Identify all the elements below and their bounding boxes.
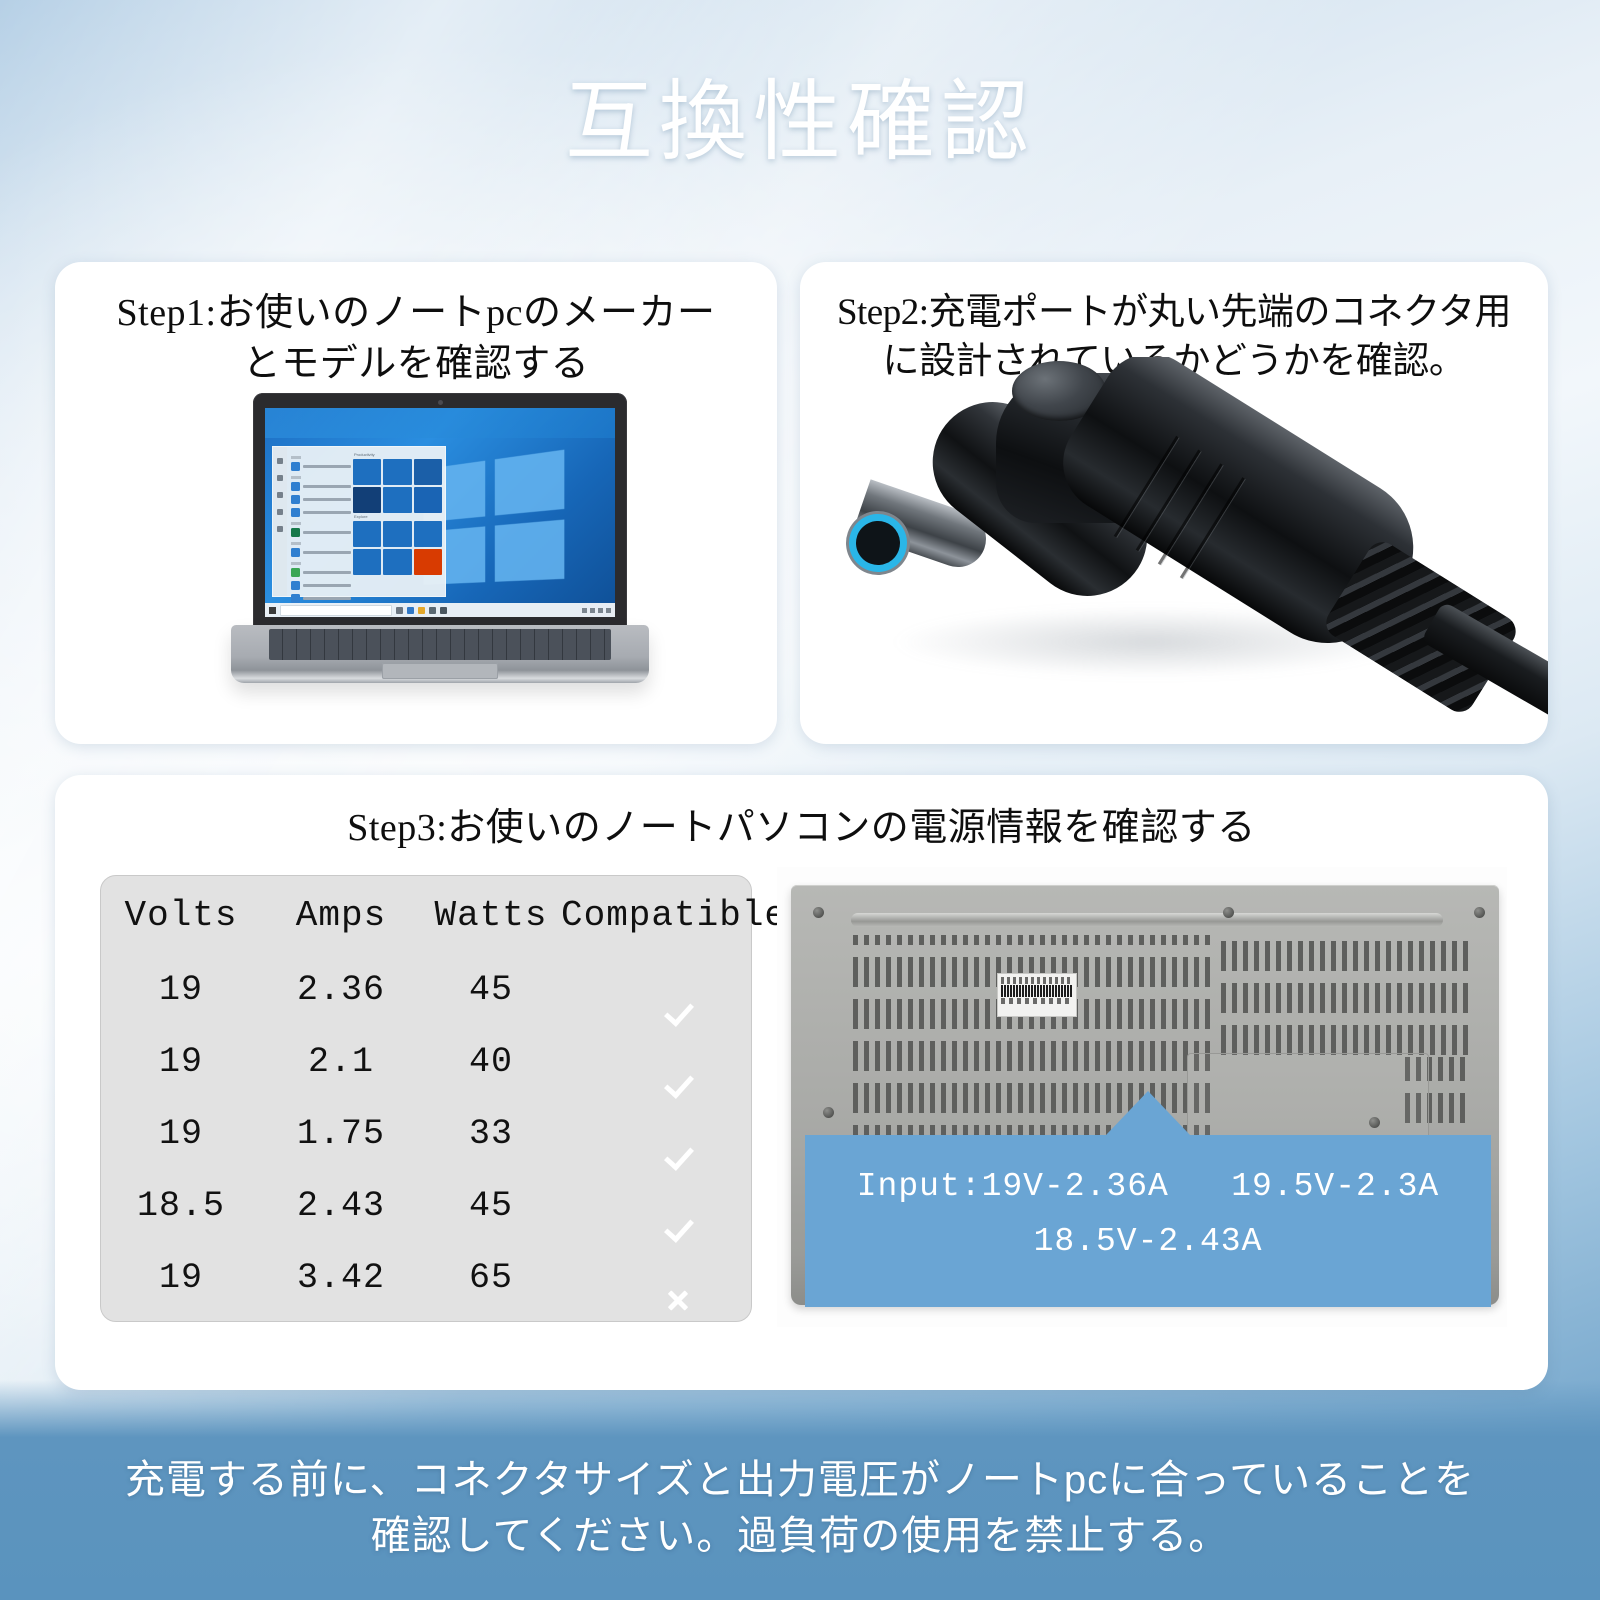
keyboard <box>269 629 611 660</box>
cell-volts: 19 <box>101 970 261 1010</box>
cell-volts: 18.5 <box>101 1186 261 1226</box>
explorer-icon[interactable] <box>418 607 425 614</box>
dc-connector-photo <box>800 357 1548 744</box>
calendar-icon <box>291 495 300 504</box>
spec-label-sticker <box>997 973 1077 1017</box>
table-row: 18.5 2.43 45 <box>101 1170 751 1242</box>
webcam-icon <box>438 400 443 405</box>
tile-microsoft-store <box>353 521 381 547</box>
cell-amps: 3.42 <box>261 1258 421 1298</box>
step3-heading: Step3:お使いのノートパソコンの電源情報を確認する <box>55 775 1548 854</box>
callout-pointer-icon <box>1106 1091 1190 1135</box>
tile-photos <box>383 487 411 513</box>
table-row: 19 3.42 65 <box>101 1242 751 1314</box>
laptop-base <box>231 625 649 683</box>
step2-heading-line1: Step2:充電ポートが丸い先端のコネクタ用 <box>810 288 1538 337</box>
connect-icon <box>291 594 300 603</box>
store-icon[interactable] <box>440 607 447 614</box>
taskbar-search-input[interactable] <box>280 605 392 616</box>
cell-amps: 1.75 <box>261 1114 421 1154</box>
feedback-hub-icon <box>291 548 300 557</box>
banner-line-1: Input:19V-2.36A 19.5V-2.3A <box>805 1135 1491 1212</box>
step2-card: Step2:充電ポートが丸い先端のコネクタ用 に設計されているかどうかを確認。 <box>800 262 1548 744</box>
game-bar-icon <box>291 568 300 577</box>
laptop-bottom-chassis: Input:19V-2.36A 19.5V-2.3A 18.5V-2.43A <box>791 885 1499 1305</box>
edge-icon[interactable] <box>407 607 414 614</box>
column-header-watts: Watts <box>421 895 561 936</box>
user-icon <box>277 458 283 464</box>
page-title: 互換性確認 <box>0 78 1600 170</box>
step3-card: Step3:お使いのノートパソコンの電源情報を確認する Volts Amps W… <box>55 775 1548 1390</box>
compatibility-table: Volts Amps Watts Compatible 19 2.36 45 1… <box>100 875 752 1322</box>
power-icon <box>277 526 283 532</box>
screw-icon <box>1223 907 1234 918</box>
screw-icon <box>1474 907 1485 918</box>
cell-watts: 45 <box>421 1186 561 1226</box>
step1-heading-line2: とモデルを確認する <box>65 339 767 390</box>
start-menu-rail <box>273 447 287 596</box>
tile-camera <box>414 521 442 547</box>
tile-office-red <box>414 549 442 575</box>
camera-icon <box>291 508 300 517</box>
table-row: 19 2.1 40 <box>101 1026 751 1098</box>
column-header-volts: Volts <box>101 895 261 936</box>
step1-heading-line1: Step1:お使いのノートpcのメーカー <box>65 288 767 339</box>
tile-movies-tv <box>383 521 411 547</box>
mail-taskbar-icon[interactable] <box>429 607 436 614</box>
step1-heading: Step1:お使いのノートpcのメーカー とモデルを確認する <box>55 262 777 389</box>
screw-icon <box>823 1107 834 1118</box>
laptop-lid: Productivity Explore <box>253 393 627 631</box>
cell-watts: 65 <box>421 1258 561 1298</box>
alarms-icon <box>291 462 300 471</box>
vent-grille-right <box>1221 935 1469 1055</box>
footer-line-1: 充電する前に、コネクタサイズと出力電圧がノートpcに合っていることを <box>0 1452 1600 1508</box>
cell-amps: 2.1 <box>261 1042 421 1082</box>
start-menu-app-list <box>289 451 351 594</box>
laptop-bottom-photo: Input:19V-2.36A 19.5V-2.3A 18.5V-2.43A <box>777 867 1507 1327</box>
calculator-icon <box>291 482 300 491</box>
tile-calendar <box>383 459 411 485</box>
banner-line-2: 18.5V-2.43A <box>805 1212 1491 1267</box>
excel-icon <box>291 528 300 537</box>
tile-mail <box>353 459 381 485</box>
barcode-icon <box>1001 985 1073 997</box>
laptop-screen: Productivity Explore <box>265 408 615 617</box>
pictures-icon <box>277 492 283 498</box>
footer-note: 充電する前に、コネクタサイズと出力電圧がノートpcに合っていることを 確認してく… <box>0 1452 1600 1564</box>
laptop-photo: Productivity Explore <box>231 393 649 693</box>
volume-icon[interactable] <box>590 608 595 613</box>
clock[interactable] <box>606 608 611 613</box>
trackpad <box>382 663 498 679</box>
desktop-top-strip <box>265 408 615 438</box>
cell-volts: 19 <box>101 1258 261 1298</box>
input-spec-callout-banner: Input:19V-2.36A 19.5V-2.3A 18.5V-2.43A <box>805 1135 1491 1307</box>
battery-icon[interactable] <box>598 608 603 613</box>
column-header-amps: Amps <box>261 895 421 936</box>
footer-line-2: 確認してください。過負荷の使用を禁止する。 <box>0 1508 1600 1564</box>
table-header-row: Volts Amps Watts Compatible <box>101 876 751 954</box>
table-row: 19 1.75 33 <box>101 1098 751 1170</box>
step1-card: Step1:お使いのノートpcのメーカー とモデルを確認する <box>55 262 777 744</box>
network-icon[interactable] <box>582 608 587 613</box>
tile-paint3d <box>353 549 381 575</box>
cell-watts: 45 <box>421 970 561 1010</box>
get-help-icon <box>291 581 300 590</box>
tile-group-explore <box>353 521 442 575</box>
screw-icon <box>1369 1117 1380 1128</box>
tile-todo <box>414 487 442 513</box>
tile-group-label-explore: Explore <box>354 514 442 519</box>
tile-group-productivity <box>353 459 442 513</box>
cell-watts: 33 <box>421 1114 561 1154</box>
documents-icon <box>277 475 283 481</box>
column-header-compatible: Compatible <box>561 895 751 936</box>
cell-volts: 19 <box>101 1042 261 1082</box>
start-menu-tiles: Productivity Explore <box>353 451 442 594</box>
table-row: 19 2.36 45 <box>101 954 751 1026</box>
cell-amps: 2.36 <box>261 970 421 1010</box>
screw-icon <box>813 907 824 918</box>
cell-watts: 40 <box>421 1042 561 1082</box>
system-tray <box>582 608 611 613</box>
start-menu: Productivity Explore <box>272 446 446 597</box>
cell-volts: 19 <box>101 1114 261 1154</box>
task-view-icon[interactable] <box>396 607 403 614</box>
hinge-bar <box>851 913 1443 927</box>
cell-amps: 2.43 <box>261 1186 421 1226</box>
tile-windows-security <box>383 549 411 575</box>
tile-office <box>414 459 442 485</box>
settings-gear-icon <box>277 509 283 515</box>
start-button-icon[interactable] <box>269 607 276 614</box>
tile-group-label-productivity: Productivity <box>354 452 442 457</box>
tile-edge <box>353 487 381 513</box>
taskbar <box>265 603 615 617</box>
